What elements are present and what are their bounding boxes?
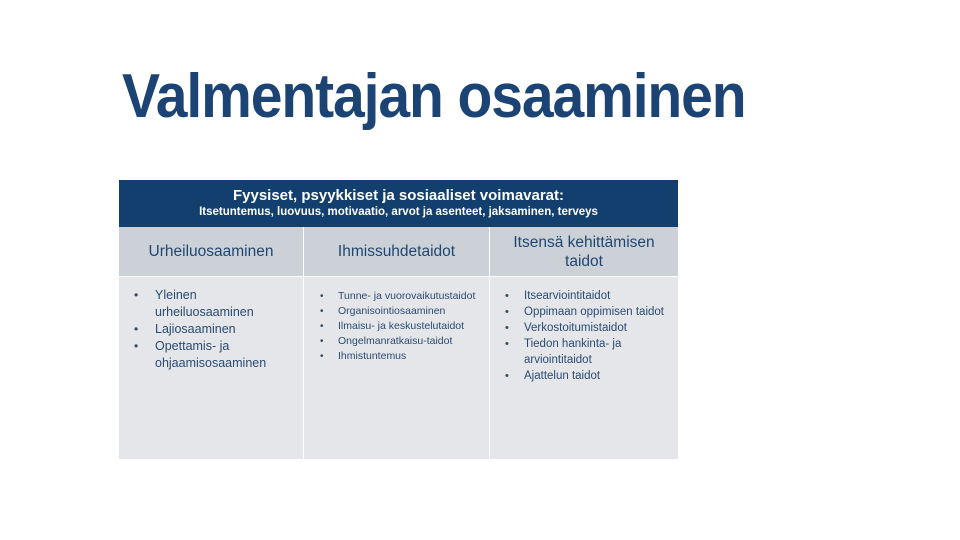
bullet-list-urheiluosaaminen: Yleinen urheiluosaaminen Lajiosaaminen O…: [125, 287, 297, 372]
list-item: Itsearviointitaidot: [496, 288, 672, 304]
bullet-list-itsensa-kehittamisen-taidot: Itsearviointitaidot Oppimaan oppimisen t…: [496, 288, 672, 384]
list-item: Verkostoitumistaidot: [496, 320, 672, 336]
list-item: Ilmaisu- ja keskustelutaidot: [310, 319, 483, 334]
column-header-ihmissuhdetaidot: Ihmissuhdetaidot: [304, 227, 489, 276]
list-item: Ihmistuntemus: [310, 349, 483, 364]
list-item: Tiedon hankinta- ja arviointitaidot: [496, 336, 672, 368]
column-header-urheiluosaaminen: Urheiluosaaminen: [119, 227, 303, 276]
matrix-body-row: Yleinen urheiluosaaminen Lajiosaaminen O…: [119, 277, 678, 459]
table-cell-urheiluosaaminen: Yleinen urheiluosaaminen Lajiosaaminen O…: [119, 277, 303, 459]
list-item: Ongelmanratkaisu-taidot: [310, 334, 483, 349]
list-item: Opettamis- ja ohjaamisosaaminen: [125, 338, 297, 372]
bullet-list-ihmissuhdetaidot: Tunne- ja vuorovaikutustaidot Organisoin…: [310, 289, 483, 364]
list-item: Lajiosaaminen: [125, 321, 297, 338]
list-item: Ajattelun taidot: [496, 368, 672, 384]
competence-matrix: Fyysiset, psyykkiset ja sosiaaliset voim…: [119, 180, 678, 459]
table-cell-itsensa-kehittamisen-taidot: Itsearviointitaidot Oppimaan oppimisen t…: [490, 277, 678, 459]
matrix-banner: Fyysiset, psyykkiset ja sosiaaliset voim…: [119, 180, 678, 227]
list-item: Tunne- ja vuorovaikutustaidot: [310, 289, 483, 304]
column-header-itsensa-kehittamisen-taidot: Itsensä kehittämisen taidot: [490, 227, 678, 276]
matrix-header-row: Urheiluosaaminen Ihmissuhdetaidot Itsens…: [119, 227, 678, 276]
banner-secondary-text: Itsetuntemus, luovuus, motivaatio, arvot…: [125, 205, 672, 220]
list-item: Yleinen urheiluosaaminen: [125, 287, 297, 321]
list-item: Oppimaan oppimisen taidot: [496, 304, 672, 320]
table-cell-ihmissuhdetaidot: Tunne- ja vuorovaikutustaidot Organisoin…: [304, 277, 489, 459]
page-title: Valmentajan osaaminen: [122, 62, 746, 132]
banner-primary-text: Fyysiset, psyykkiset ja sosiaaliset voim…: [125, 186, 672, 205]
list-item: Organisointiosaaminen: [310, 304, 483, 319]
